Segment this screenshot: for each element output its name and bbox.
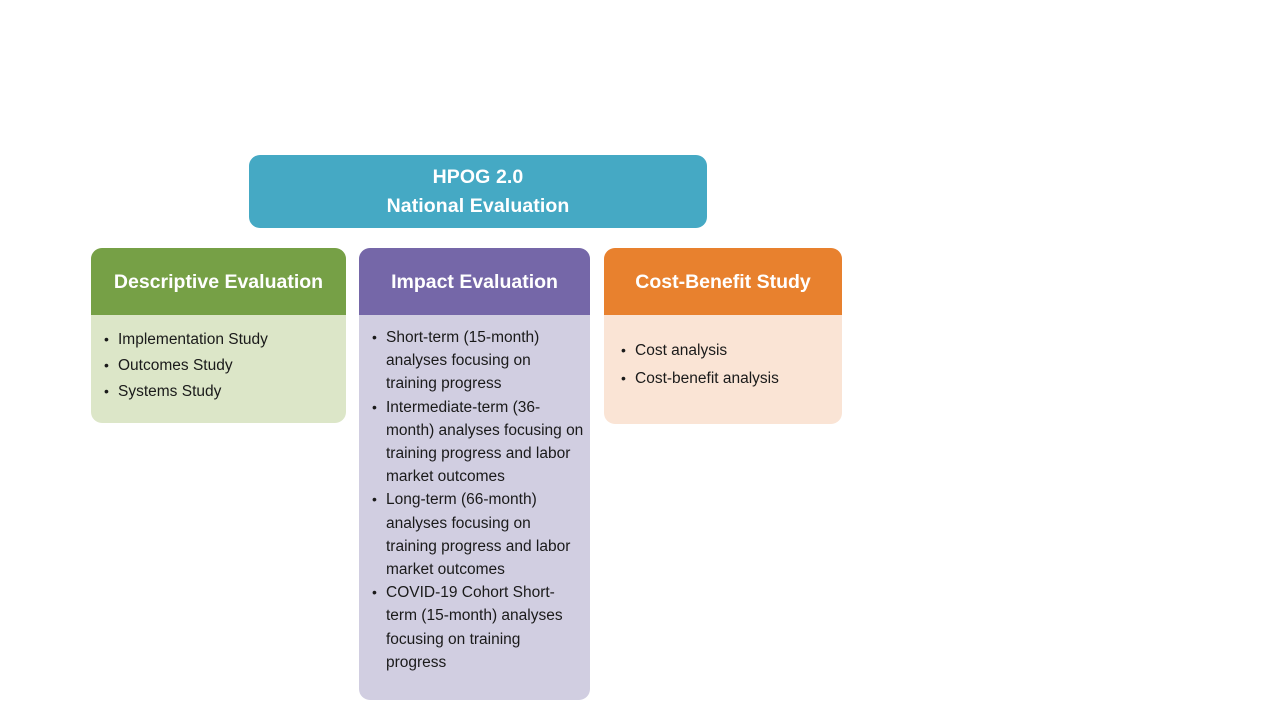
list-item: Implementation Study [103,328,336,351]
column-header-cost-benefit-study: Cost-Benefit Study [604,248,842,315]
list-item: Cost analysis [620,339,832,362]
list-item: Cost-benefit analysis [620,367,832,390]
column-title-descriptive-evaluation: Descriptive Evaluation [114,270,323,294]
list-item: Short-term (15-month) analyses focusing … [371,326,584,396]
list-item: COVID-19 Cohort Short-term (15-month) an… [371,581,584,674]
column-header-impact-evaluation: Impact Evaluation [359,248,590,315]
column-body-cost-benefit-study: Cost analysis Cost-benefit analysis [604,315,842,424]
bullet-list-impact-evaluation: Short-term (15-month) analyses focusing … [371,326,584,674]
column-header-descriptive-evaluation: Descriptive Evaluation [91,248,346,315]
bullet-list-cost-benefit-study: Cost analysis Cost-benefit analysis [620,339,832,390]
list-item: Outcomes Study [103,354,336,377]
column-body-descriptive-evaluation: Implementation Study Outcomes Study Syst… [91,315,346,423]
root-title-line-2: National Evaluation [387,192,570,221]
column-impact-evaluation: Impact Evaluation Short-term (15-month) … [359,248,590,700]
column-descriptive-evaluation: Descriptive Evaluation Implementation St… [91,248,346,423]
bullet-list-descriptive-evaluation: Implementation Study Outcomes Study Syst… [103,328,336,404]
diagram-canvas: HPOG 2.0 National Evaluation Descriptive… [0,0,1280,720]
list-item: Intermediate-term (36-month) analyses fo… [371,396,584,489]
column-title-cost-benefit-study: Cost-Benefit Study [635,270,811,294]
root-title-line-1: HPOG 2.0 [433,163,524,192]
column-cost-benefit-study: Cost-Benefit Study Cost analysis Cost-be… [604,248,842,424]
root-node-hpog-national-evaluation: HPOG 2.0 National Evaluation [249,155,707,228]
list-item: Long-term (66-month) analyses focusing o… [371,488,584,581]
column-title-impact-evaluation: Impact Evaluation [391,270,558,294]
list-item: Systems Study [103,380,336,403]
column-body-impact-evaluation: Short-term (15-month) analyses focusing … [359,315,590,700]
